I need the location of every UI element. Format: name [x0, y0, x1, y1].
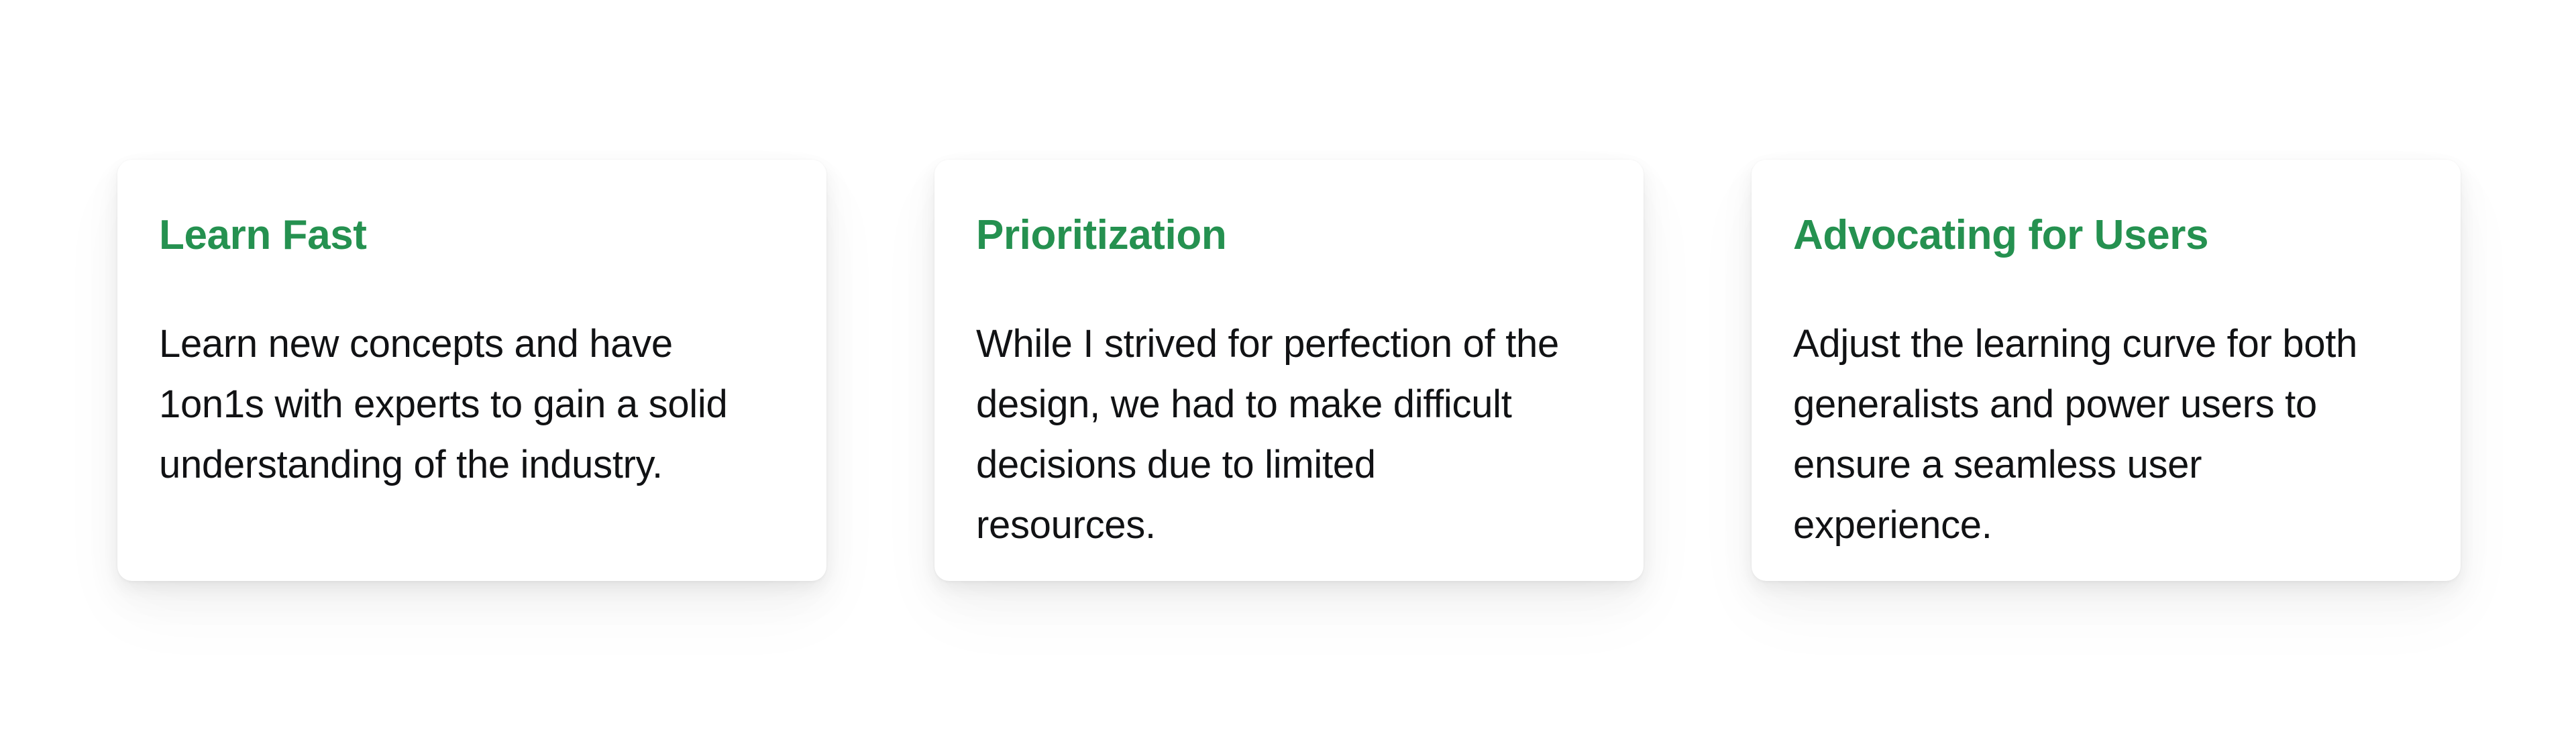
- feature-card-prioritization: Prioritization While I strived for perfe…: [934, 160, 1644, 581]
- card-body-text: While I strived for perfection of the de…: [976, 256, 1560, 555]
- card-title: Prioritization: [976, 215, 1560, 256]
- feature-cards-row: Learn Fast Learn new concepts and have 1…: [117, 160, 2461, 581]
- card-title: Learn Fast: [159, 215, 743, 256]
- feature-card-learn-fast: Learn Fast Learn new concepts and have 1…: [117, 160, 826, 581]
- feature-card-advocating-for-users: Advocating for Users Adjust the learning…: [1752, 160, 2461, 581]
- card-body-text: Learn new concepts and have 1on1s with e…: [159, 256, 743, 495]
- card-title: Advocating for Users: [1793, 215, 2377, 256]
- card-body-text: Adjust the learning curve for both gener…: [1793, 256, 2377, 555]
